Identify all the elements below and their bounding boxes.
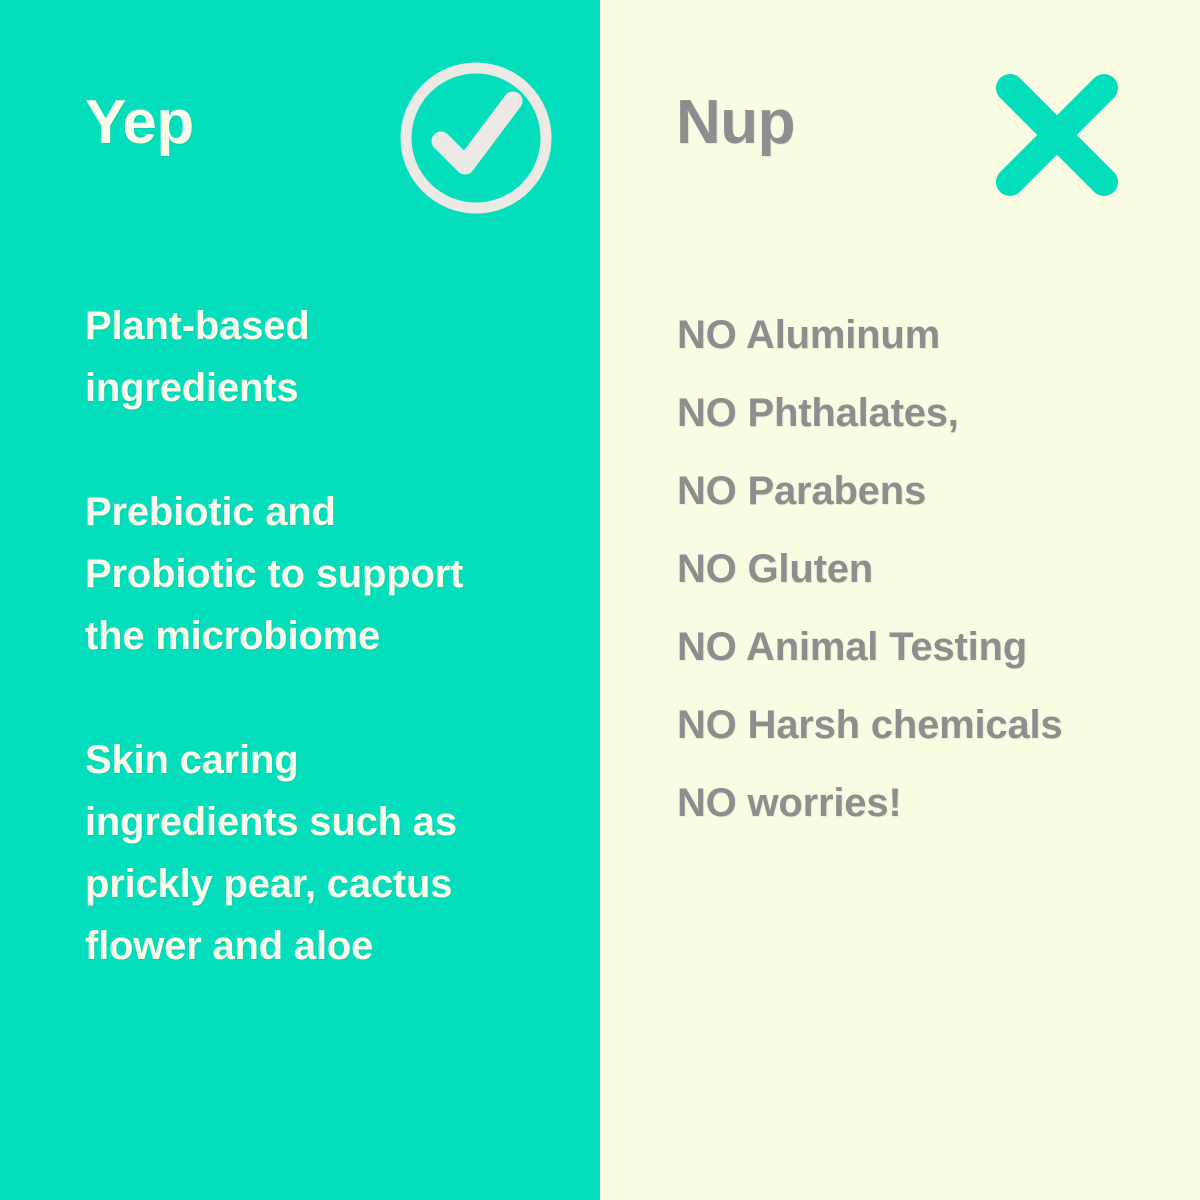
yep-panel-header: Yep <box>0 0 600 268</box>
nup-panel-header: Nup <box>600 0 1200 268</box>
list-item: NO Gluten <box>677 530 1157 608</box>
nup-panel: Nup NO Aluminum NO Phthalates, NO Parabe… <box>600 0 1200 1200</box>
list-item: NO Phthalates, <box>677 374 1157 452</box>
list-item: NO Harsh chemicals <box>677 686 1157 764</box>
list-item: Prebiotic and Probiotic to support the m… <box>85 481 505 667</box>
list-item: NO Aluminum <box>677 296 1157 374</box>
nup-panel-title: Nup <box>676 92 795 154</box>
comparison-board: Yep Plant-based ingredients Prebiotic an… <box>0 0 1200 1200</box>
yep-panel: Yep Plant-based ingredients Prebiotic an… <box>0 0 600 1200</box>
list-item: NO Parabens <box>677 452 1157 530</box>
list-item: Skin caring ingredients such as prickly … <box>85 729 505 977</box>
cross-icon <box>992 70 1122 200</box>
yep-panel-title: Yep <box>85 92 194 154</box>
list-item: NO Animal Testing <box>677 608 1157 686</box>
nup-exclusions-list: NO Aluminum NO Phthalates, NO Parabens N… <box>677 296 1157 842</box>
check-circle-icon <box>396 58 556 218</box>
yep-benefits-list: Plant-based ingredients Prebiotic and Pr… <box>85 295 505 977</box>
list-item: Plant-based ingredients <box>85 295 505 419</box>
list-item: NO worries! <box>677 764 1157 842</box>
